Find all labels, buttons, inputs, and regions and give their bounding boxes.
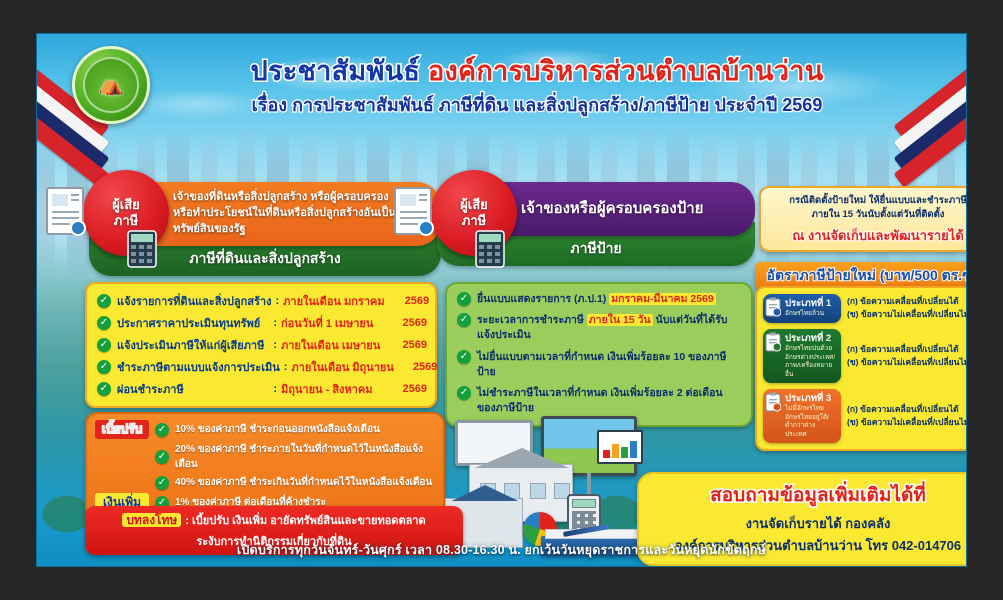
fine-item-text: 10% ของค่าภาษี ชำระก่อนออกหนังสือแจ้งเตื… <box>175 422 380 437</box>
sign-taxpayer-description: เจ้าของหรือผู้ครอบครองป้าย <box>521 198 703 220</box>
service-hours-banner: เปิดบริการทุกวันจันทร์-วันศุกร์ เวลา 08.… <box>37 540 966 560</box>
land-desc-line-1: เจ้าของที่ดินหรือสิ่งปลูกสร้าง หรือผู้คร… <box>173 190 429 206</box>
colon-separator: : <box>280 361 292 373</box>
rule-text: ยื่นแบบแสดงรายการ (ภ.ป.1) มกราคม-มีนาคม … <box>477 292 716 307</box>
poster-root: ⛺ ประชาสัมพันธ์ องค์การบริหารส่วนตำบลบ้า… <box>36 33 967 567</box>
land-taxpayer-description: เจ้าของที่ดินหรือสิ่งปลูกสร้าง หรือผู้คร… <box>173 190 429 238</box>
municipality-emblem-icon: ⛺ <box>72 46 150 124</box>
check-icon: ✓ <box>97 316 111 330</box>
clipboard-check-icon <box>765 392 781 412</box>
check-icon: ✓ <box>155 450 169 464</box>
schedule-label: แจ้งประเมินภาษีให้แก่ผู้เสียภาษี <box>117 336 269 354</box>
sign-taxpayer-pill: ผู้เสีย ภาษี เจ้าของหรือผู้ครอบครองป้าย <box>437 182 755 236</box>
rate-lines: (ก) ข้อความเคลื่อนที่/เปลี่ยนได้ (ข) ข้อ… <box>841 329 967 383</box>
check-icon: ✓ <box>97 294 111 308</box>
check-icon: ✓ <box>97 360 111 374</box>
schedule-year: 2569 <box>393 317 427 329</box>
contact-department: งานจัดเก็บรายได้ กองคลัง <box>647 513 967 534</box>
schedule-when: ภายในเดือน มกราคม <box>283 292 395 310</box>
land-tax-schedule-panel: ✓ แจ้งรายการที่ดินและสิ่งปลูกสร้าง : ภาย… <box>85 282 437 408</box>
rule-row: ✓ ไม่ชำระภาษีในเวลาที่กำหนด เงินเพิ่มร้อ… <box>457 386 741 416</box>
punishment-line-1: : เบี้ยปรับ เงินเพิ่ม อายัดทรัพย์สินและข… <box>185 515 425 527</box>
schedule-row: ✓ แจ้งประเมินภาษีให้แก่ผู้เสียภาษี : ภาย… <box>97 336 427 354</box>
rule-highlight: มกราคม-มีนาคม 2569 <box>609 293 715 305</box>
check-icon: ✓ <box>457 350 471 364</box>
check-icon: ✓ <box>457 386 471 400</box>
rule-text: ไม่ยื่นแบบตามเวลาที่กำหนด เงินเพิ่มร้อยล… <box>477 350 741 380</box>
fine-label: เบี้ยปรับ <box>95 420 149 439</box>
rate-lines: (ก) ข้อความเคลื่อนที่/เปลี่ยนได้ (ข) ข้อ… <box>841 389 967 443</box>
penalty-row: ✓ 20% ของค่าภาษี ชำระภายในวันที่กำหนดไว้… <box>95 442 435 472</box>
colon-separator: : <box>269 317 281 329</box>
rate-line-a: (ก) ข้อความเคลื่อนที่/เปลี่ยนได้ <box>847 343 967 356</box>
taxpayer-label-line1: ผู้เสีย <box>112 197 140 213</box>
chart-monitor-icon <box>597 430 643 464</box>
clipboard-check-icon <box>765 332 781 352</box>
land-desc-line-2: หรือทำประโยชน์ในที่ดินหรือสิ่งปลูกสร้างอ… <box>173 206 429 222</box>
rule-pre: ระยะเวลาการชำระภาษี <box>477 314 587 326</box>
title-part-2: องค์การบริหารส่วนตำบลบ้านว่าน <box>428 56 824 86</box>
page-title: ประชาสัมพันธ์ องค์การบริหารส่วนตำบลบ้านว… <box>187 56 887 87</box>
land-taxpayer-pill: ผู้เสีย ภาษี เจ้าของที่ดินหรือสิ่งปลูกสร… <box>89 182 441 246</box>
rule-row: ✓ ระยะเวลาการชำระภาษี ภายใน 15 วัน นับแต… <box>457 313 741 343</box>
notice-line-1: กรณีติดตั้งป้ายใหม่ ให้ยื่นแบบและชำระภาษ… <box>769 194 967 208</box>
service-hours-text: เปิดบริการทุกวันจันทร์-วันศุกร์ เวลา 08.… <box>237 540 766 560</box>
check-icon: ✓ <box>457 313 471 327</box>
schedule-label: แจ้งรายการที่ดินและสิ่งปลูกสร้าง <box>117 292 271 310</box>
sign-taxpayer-badge-group: ผู้เสีย ภาษี เจ้าของหรือผู้ครอบครองป้าย … <box>437 182 755 266</box>
check-icon: ✓ <box>155 423 169 437</box>
rate-line-a: (ก) ข้อความเคลื่อนที่/เปลี่ยนได้ <box>847 295 967 308</box>
schedule-year: 2569 <box>395 295 429 307</box>
new-sign-notice-box: กรณีติดตั้งป้ายใหม่ ให้ยื่นแบบและชำระภาษ… <box>759 186 967 252</box>
penalty-row: ✓ 40% ของค่าภาษี ชำระเกินวันที่กำหนดไว้ใ… <box>95 475 435 490</box>
check-icon: ✓ <box>97 382 111 396</box>
colon-separator: : <box>271 295 283 307</box>
punishment-label: บทลงโทษ <box>122 513 181 527</box>
schedule-row: ✓ แจ้งรายการที่ดินและสิ่งปลูกสร้าง : ภาย… <box>97 292 427 310</box>
rule-row: ✓ ไม่ยื่นแบบตามเวลาที่กำหนด เงินเพิ่มร้อ… <box>457 350 741 380</box>
penalty-row: เบี้ยปรับ ✓ 10% ของค่าภาษี ชำระก่อนออกหน… <box>95 420 435 439</box>
rate-line-b: (ข) ข้อความไม่เคลื่อนที่/เปลี่ยนไม่ได้ <box>847 356 967 369</box>
schedule-row: ✓ ชำระภาษีตามแบบแจ้งการประเมิน : ภายในเด… <box>97 358 427 376</box>
taxpayer-label-line1: ผู้เสีย <box>460 197 488 213</box>
schedule-label: ผ่อนชำระภาษี <box>117 380 269 398</box>
notice-office-name: ณ งานจัดเก็บและพัฒนารายได้ <box>769 225 967 246</box>
land-desc-line-3: ทรัพย์สินของรัฐ <box>173 222 429 238</box>
type-desc: อักษรไทยล้วน <box>785 310 836 318</box>
colon-separator: : <box>269 339 281 351</box>
rate-line-b: (ข) ข้อความไม่เคลื่อนที่/เปลี่ยนไม่ได้ <box>847 416 967 429</box>
sign-type-2-tag: ประเภทที่ 2 อักษรไทยปนด้วยอักษรต่างประเท… <box>763 329 841 383</box>
calculator-icon <box>475 230 505 268</box>
schedule-year: 2569 <box>393 339 427 351</box>
type-desc: อักษรไทยปนด้วยอักษรต่างประเทศ/ภาพ/เครื่อ… <box>785 345 836 379</box>
sign-tax-rules-panel: ✓ ยื่นแบบแสดงรายการ (ภ.ป.1) มกราคม-มีนาค… <box>445 282 753 427</box>
header-title-block: ประชาสัมพันธ์ องค์การบริหารส่วนตำบลบ้านว… <box>187 56 887 119</box>
schedule-when: มิถุนายน - สิงหาคม <box>281 380 393 398</box>
rule-highlight: ภายใน 15 วัน <box>587 314 653 326</box>
notice-line-2: ภายใน 15 วันนับตั้งแต่วันที่ติดตั้ง <box>769 208 967 222</box>
sign-rate-table: ประเภทที่ 1 อักษรไทยล้วน (ก) ข้อความเคลื… <box>755 286 967 451</box>
colon-separator: : <box>269 383 281 395</box>
rate-row: ประเภทที่ 3 ไม่มีอักษรไทย อักษรไทยอยู่ใต… <box>763 389 967 443</box>
penalty-panel: เบี้ยปรับ ✓ 10% ของค่าภาษี ชำระก่อนออกหน… <box>85 412 445 520</box>
schedule-when: ก่อนวันที่ 1 เมษายน <box>281 314 393 332</box>
rate-lines: (ก) ข้อความเคลื่อนที่/เปลี่ยนได้ (ข) ข้อ… <box>841 294 967 323</box>
rate-row: ประเภทที่ 1 อักษรไทยล้วน (ก) ข้อความเคลื… <box>763 294 967 323</box>
check-icon: ✓ <box>155 476 169 490</box>
sign-type-3-tag: ประเภทที่ 3 ไม่มีอักษรไทย อักษรไทยอยู่ใต… <box>763 389 841 443</box>
schedule-label: ประกาศราคาประเมินทุนทรัพย์ <box>117 314 269 332</box>
taxpayer-label-line2: ภาษี <box>114 213 138 229</box>
rule-pre: ยื่นแบบแสดงรายการ (ภ.ป.1) <box>477 293 609 305</box>
schedule-when: ภายในเดือน มิถุนายน <box>291 358 403 376</box>
check-icon: ✓ <box>97 338 111 352</box>
fine-item-text: 40% ของค่าภาษี ชำระเกินวันที่กำหนดไว้ในห… <box>175 475 432 490</box>
rule-text: ระยะเวลาการชำระภาษี ภายใน 15 วัน นับแต่ว… <box>477 313 741 343</box>
fine-item-text: 20% ของค่าภาษี ชำระภายในวันที่กำหนดไว้ใน… <box>175 442 435 472</box>
schedule-year: 2569 <box>403 361 437 373</box>
rule-pre: ไม่ชำระภาษีในเวลาที่กำหนด เงินเพิ่มร้อยล… <box>477 387 723 414</box>
land-taxpayer-badge-group: ผู้เสีย ภาษี เจ้าของที่ดินหรือสิ่งปลูกสร… <box>89 182 441 276</box>
type-name: ประเภทที่ 1 <box>785 298 836 309</box>
schedule-when: ภายในเดือน เมษายน <box>281 336 393 354</box>
type-name: ประเภทที่ 2 <box>785 333 836 344</box>
contact-heading: สอบถามข้อมูลเพิ่มเติมได้ที่ <box>647 480 967 510</box>
type-desc: ไม่มีอักษรไทย อักษรไทยอยู่ใต้/ต่ำกว่าต่า… <box>785 405 836 439</box>
check-icon: ✓ <box>457 292 471 306</box>
sign-type-1-tag: ประเภทที่ 1 อักษรไทยล้วน <box>763 294 841 323</box>
document-icon <box>393 186 437 238</box>
type-name: ประเภทที่ 3 <box>785 393 836 404</box>
calculator-icon <box>127 230 157 268</box>
rate-header-prefix: อัตราภาษีป้ายใหม่ <box>767 267 880 283</box>
page-subtitle: เรื่อง การประชาสัมพันธ์ ภาษีที่ดิน และสิ… <box>187 90 887 119</box>
temple-glyph: ⛺ <box>99 74 124 96</box>
rule-row: ✓ ยื่นแบบแสดงรายการ (ภ.ป.1) มกราคม-มีนาค… <box>457 292 741 307</box>
rule-pre: ไม่ยื่นแบบตามเวลาที่กำหนด เงินเพิ่มร้อยล… <box>477 351 726 378</box>
schedule-label: ชำระภาษีตามแบบแจ้งการประเมิน <box>117 358 280 376</box>
schedule-year: 2569 <box>393 383 427 395</box>
clipboard-check-icon <box>765 297 781 317</box>
title-part-1: ประชาสัมพันธ์ <box>251 56 421 86</box>
rate-row: ประเภทที่ 2 อักษรไทยปนด้วยอักษรต่างประเท… <box>763 329 967 383</box>
document-icon <box>45 186 89 238</box>
rate-line-a: (ก) ข้อความเคลื่อนที่/เปลี่ยนได้ <box>847 403 967 416</box>
rate-header-unit: (บาท/500 ตร.ซม.) <box>880 267 967 283</box>
schedule-row: ✓ ประกาศราคาประเมินทุนทรัพย์ : ก่อนวันที… <box>97 314 427 332</box>
schedule-row: ✓ ผ่อนชำระภาษี : มิถุนายน - สิงหาคม 2569 <box>97 380 427 398</box>
taxpayer-label-line2: ภาษี <box>462 213 486 229</box>
rule-text: ไม่ชำระภาษีในเวลาที่กำหนด เงินเพิ่มร้อยล… <box>477 386 741 416</box>
rate-line-b: (ข) ข้อความไม่เคลื่อนที่/เปลี่ยนไม่ได้ <box>847 308 967 321</box>
